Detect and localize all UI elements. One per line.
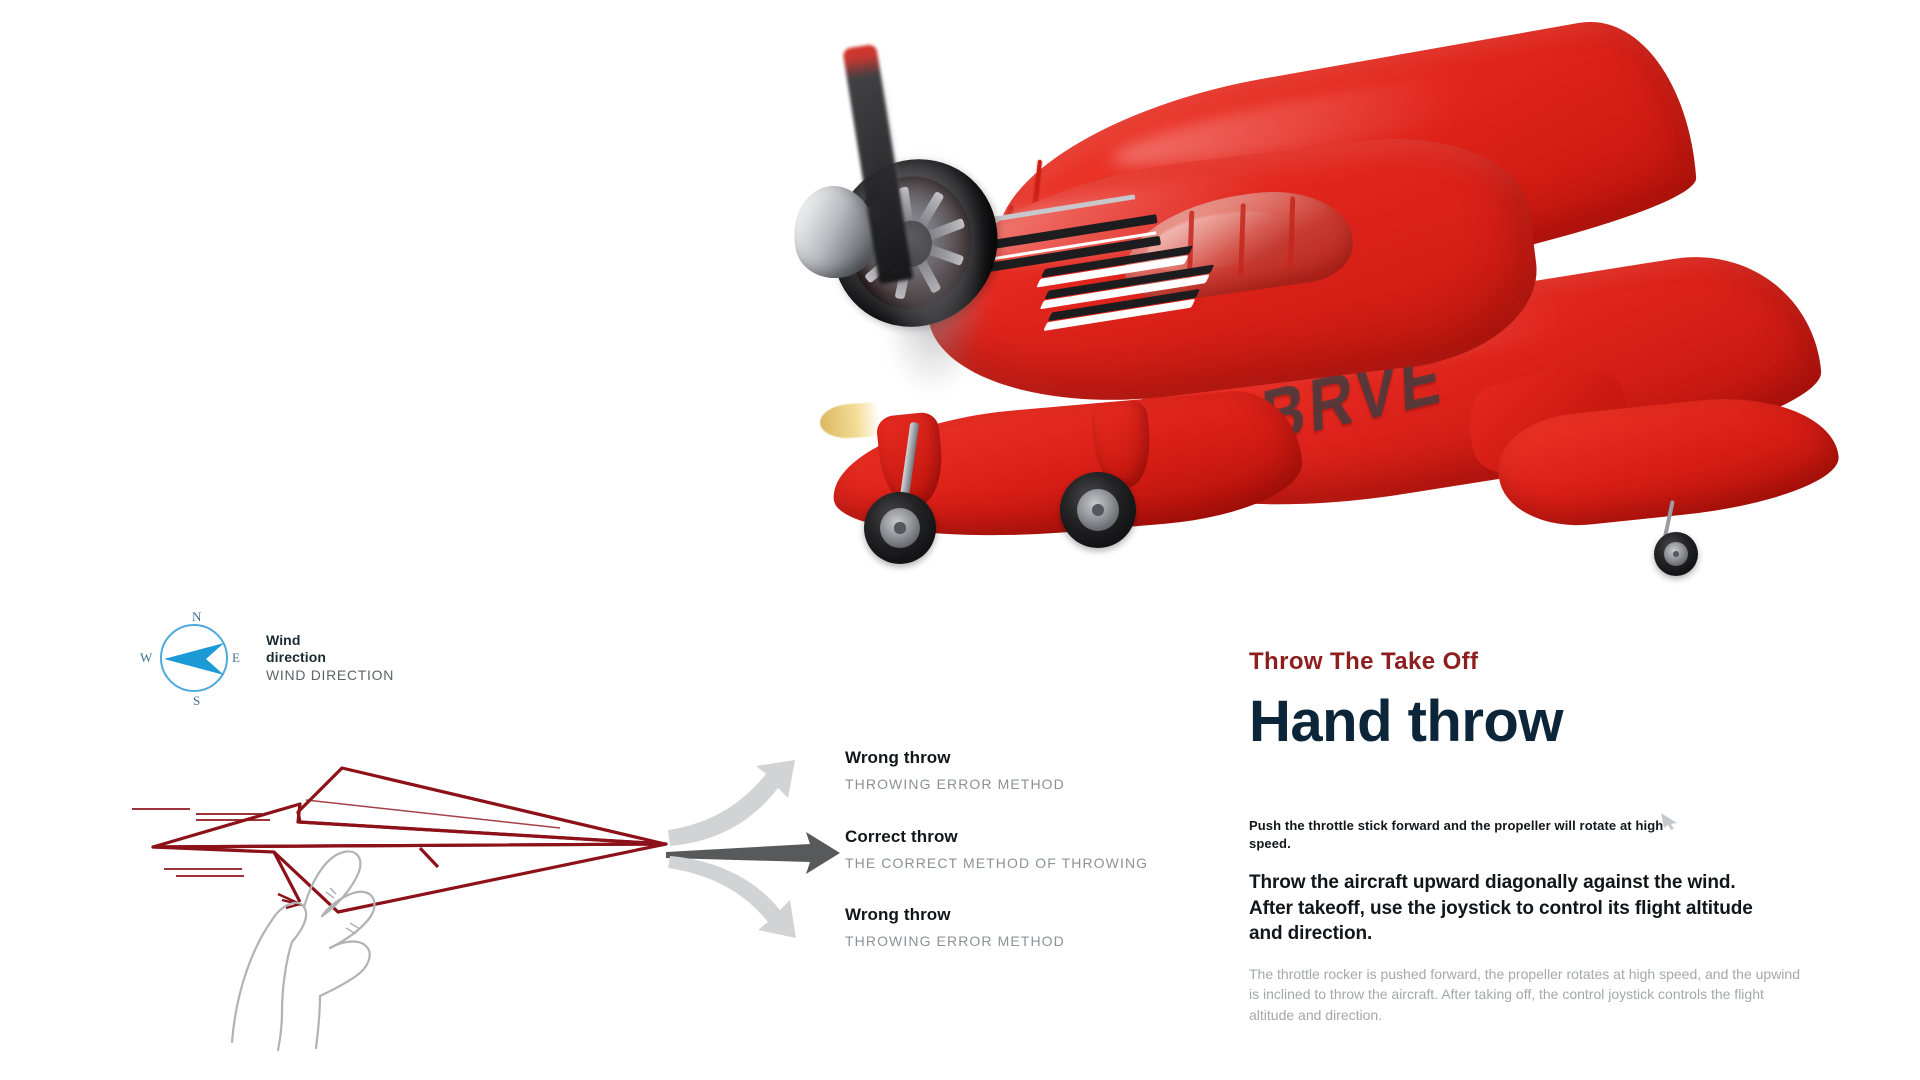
throw-method-title: Wrong throw — [845, 905, 1265, 925]
wheel-rim — [880, 508, 920, 548]
note-paragraph: The throttle rocker is pushed forward, t… — [1249, 964, 1809, 1026]
hero-aircraft-image: G-BRVE — [0, 0, 1920, 620]
emphasis-paragraph: Throw the aircraft upward diagonally aga… — [1249, 870, 1779, 946]
wind-direction-label: Wind direction WIND DIRECTION — [266, 632, 466, 683]
throw-method-wrong-bottom: Wrong throw THROWING ERROR METHOD — [845, 905, 1265, 949]
compass-label-north: N — [192, 610, 201, 623]
compass-label-east: E — [232, 651, 240, 664]
page-title: Hand throw — [1249, 691, 1829, 754]
curve-up-arrow-icon — [668, 760, 795, 846]
compass-label-south: S — [193, 694, 200, 707]
spinning-propeller — [785, 22, 1075, 453]
wheel-rim — [1664, 542, 1689, 567]
aircraft-illustration: G-BRVE — [380, 10, 1600, 610]
wind-direction-block: N S W E Wind direction WIND DIRECTION — [148, 612, 428, 722]
throw-direction-arrows — [660, 752, 850, 962]
lead-paragraph: Push the throttle stick forward and the … — [1249, 817, 1669, 855]
pointer-artifact-icon — [1660, 812, 1682, 830]
throw-method-subtitle: THROWING ERROR METHOD — [845, 776, 1265, 792]
section-eyebrow: Throw The Take Off — [1249, 650, 1829, 674]
compass-icon: N S W E — [148, 612, 240, 704]
wind-arrow-icon — [162, 642, 226, 676]
arrows-svg — [660, 752, 850, 962]
paper-plane-outline — [153, 768, 666, 912]
compass-label-west: W — [140, 651, 152, 664]
throw-method-subtitle: THE CORRECT METHOD OF THROWING — [845, 855, 1265, 871]
throw-method-title: Wrong throw — [845, 748, 1265, 768]
throw-method-correct: Correct throw THE CORRECT METHOD OF THRO… — [845, 827, 1265, 871]
wheel-rim — [1077, 489, 1120, 532]
throw-method-title: Correct throw — [845, 827, 1265, 847]
throw-method-subtitle: THROWING ERROR METHOD — [845, 933, 1265, 949]
throw-method-wrong-top: Wrong throw THROWING ERROR METHOD — [845, 748, 1265, 792]
wind-direction-title-line2: direction — [266, 649, 466, 666]
wind-direction-title-line1: Wind — [266, 632, 466, 649]
right-text-panel: Throw The Take Off Hand throw Push the t… — [1249, 650, 1829, 1026]
wind-direction-subtitle: WIND DIRECTION — [266, 667, 466, 683]
paper-plane-hand-drawing — [120, 752, 680, 1052]
page-root: G-BRVE — [0, 0, 1920, 1080]
main-wheel-left — [864, 492, 936, 564]
hand-throw-illustration — [120, 752, 680, 1052]
tail-wheel — [1654, 532, 1698, 576]
main-wheel-right — [1060, 472, 1136, 548]
curve-down-arrow-icon — [668, 856, 796, 938]
